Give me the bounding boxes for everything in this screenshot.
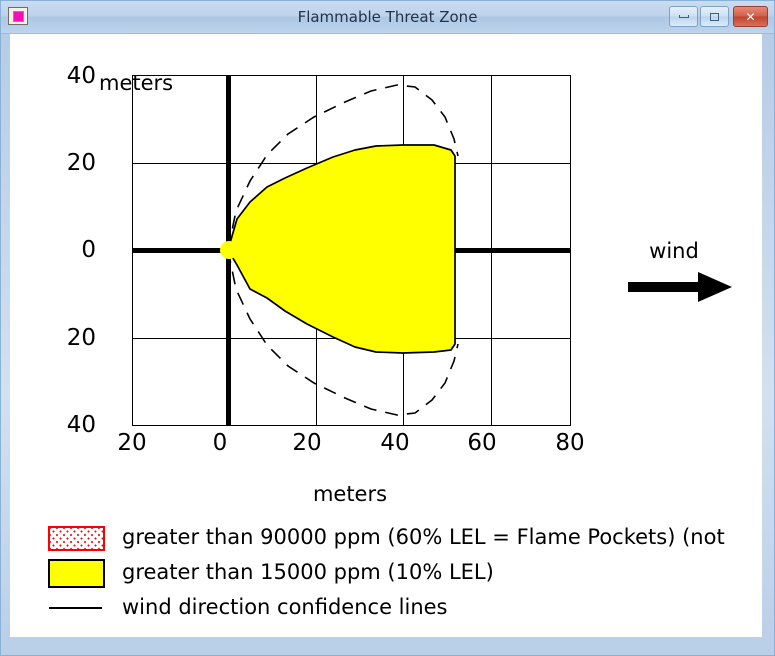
y-tick-label-20: 20: [54, 150, 96, 176]
window-title: Flammable Threat Zone: [1, 1, 774, 33]
x-tick-label-40: 40: [365, 430, 425, 456]
title-bar: Flammable Threat Zone ✕: [1, 1, 774, 34]
legend-label-lel: greater than 15000 ppm (10% LEL): [122, 556, 494, 589]
maximize-button[interactable]: [700, 6, 729, 27]
flame-pocket-swatch-cell: [48, 521, 110, 556]
y-tick-label-0: 0: [54, 237, 96, 263]
x-tick-label-20: 20: [277, 430, 337, 456]
x-tick-label-60: 60: [452, 430, 512, 456]
legend-item-flame-pockets: greater than 90000 ppm (60% LEL = Flame …: [10, 521, 762, 556]
minimize-icon: [670, 7, 697, 26]
close-icon: ✕: [734, 7, 767, 26]
legend-label-flame-pockets: greater than 90000 ppm (60% LEL = Flame …: [122, 521, 725, 554]
application-window: Flammable Threat Zone ✕ meters 40 20 0 2…: [0, 0, 775, 656]
x-axis-title: meters: [10, 482, 690, 506]
close-button[interactable]: ✕: [733, 6, 768, 27]
lel-zone-polygon: [228, 145, 455, 353]
legend: greater than 90000 ppm (60% LEL = Flame …: [10, 521, 762, 626]
source-point: [220, 241, 238, 259]
plume-graphic: [133, 76, 570, 425]
y-tick-label-neg-40: 40: [54, 412, 96, 438]
minimize-button[interactable]: [669, 6, 698, 27]
x-tick-label-80: 80: [540, 430, 600, 456]
x-tick-label-neg-20: 20: [102, 430, 162, 456]
lel-swatch-cell: [48, 556, 110, 591]
confidence-line-swatch-cell: [48, 591, 110, 626]
client-area: meters 40 20 0 20 40 20 0 20 40 60 80: [10, 34, 762, 637]
confidence-line-swatch: [49, 607, 102, 609]
x-tick-label-0: 0: [190, 430, 250, 456]
legend-label-confidence-lines: wind direction confidence lines: [122, 591, 448, 624]
legend-item-confidence-lines: wind direction confidence lines: [10, 591, 762, 626]
legend-item-lel: greater than 15000 ppm (10% LEL): [10, 556, 762, 591]
maximize-icon: [701, 7, 728, 26]
y-tick-label-40: 40: [54, 63, 96, 89]
wind-label: wind: [618, 239, 730, 263]
y-tick-label-neg-20: 20: [54, 325, 96, 351]
wind-arrow-icon: [628, 270, 736, 304]
flame-pocket-swatch: [48, 526, 105, 551]
wind-indicator: wind: [618, 239, 748, 309]
lel-swatch: [48, 559, 105, 588]
